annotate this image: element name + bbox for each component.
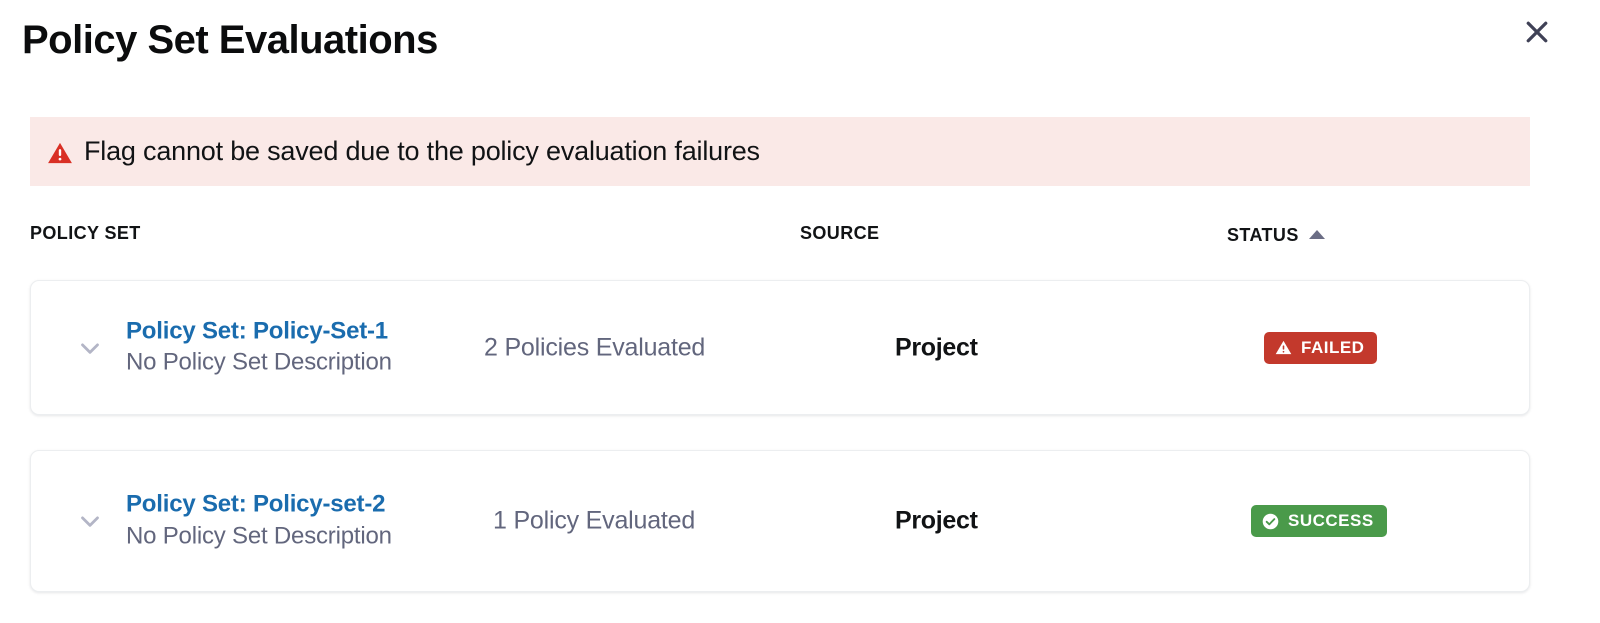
status-cell: SUCCESS — [1251, 505, 1387, 537]
expand-row-button[interactable] — [73, 331, 107, 365]
status-badge-label: SUCCESS — [1288, 511, 1374, 531]
table-row[interactable]: Policy Set: Policy-set-2 No Policy Set D… — [30, 450, 1530, 592]
chevron-down-icon — [75, 333, 105, 363]
column-header-status-label: STATUS — [1227, 226, 1299, 244]
column-header-policy-set[interactable]: POLICY SET — [30, 224, 141, 242]
status-badge: FAILED — [1264, 332, 1377, 364]
alert-message: Flag cannot be saved due to the policy e… — [84, 135, 760, 167]
page-title: Policy Set Evaluations — [22, 17, 438, 63]
modal-header: Policy Set Evaluations — [0, 0, 1600, 96]
table-header-row: POLICY SET SOURCE STATUS — [0, 218, 1600, 252]
policy-set-link[interactable]: Policy Set: Policy-set-2 — [126, 490, 476, 521]
close-icon — [1522, 17, 1552, 47]
chevron-down-icon — [75, 506, 105, 536]
policy-set-link[interactable]: Policy Set: Policy-Set-1 — [126, 316, 476, 347]
policies-evaluated-count: 2 Policies Evaluated — [484, 333, 705, 362]
status-cell: FAILED — [1264, 332, 1377, 364]
policy-set-description: No Policy Set Description — [126, 347, 476, 379]
source-value: Project — [895, 507, 978, 536]
column-header-status[interactable]: STATUS — [1227, 226, 1325, 244]
policy-set-evaluations-modal: Policy Set Evaluations Flag cannot be sa… — [0, 0, 1600, 623]
policy-set-cell: Policy Set: Policy-Set-1 No Policy Set D… — [126, 316, 476, 379]
policy-set-cell: Policy Set: Policy-set-2 No Policy Set D… — [126, 490, 476, 553]
expand-row-button[interactable] — [73, 504, 107, 538]
status-badge: SUCCESS — [1251, 505, 1387, 537]
warning-triangle-icon — [1275, 339, 1292, 356]
close-button[interactable] — [1520, 15, 1554, 49]
policy-set-description: No Policy Set Description — [126, 520, 476, 552]
table-row[interactable]: Policy Set: Policy-Set-1 No Policy Set D… — [30, 280, 1530, 415]
check-circle-icon — [1262, 513, 1279, 530]
warning-triangle-icon — [47, 140, 73, 166]
status-badge-label: FAILED — [1301, 338, 1364, 358]
sort-ascending-icon[interactable] — [1309, 230, 1325, 239]
policy-failure-alert: Flag cannot be saved due to the policy e… — [30, 117, 1530, 186]
policies-evaluated-count: 1 Policy Evaluated — [493, 507, 695, 536]
column-header-source[interactable]: SOURCE — [800, 224, 879, 242]
source-value: Project — [895, 333, 978, 362]
